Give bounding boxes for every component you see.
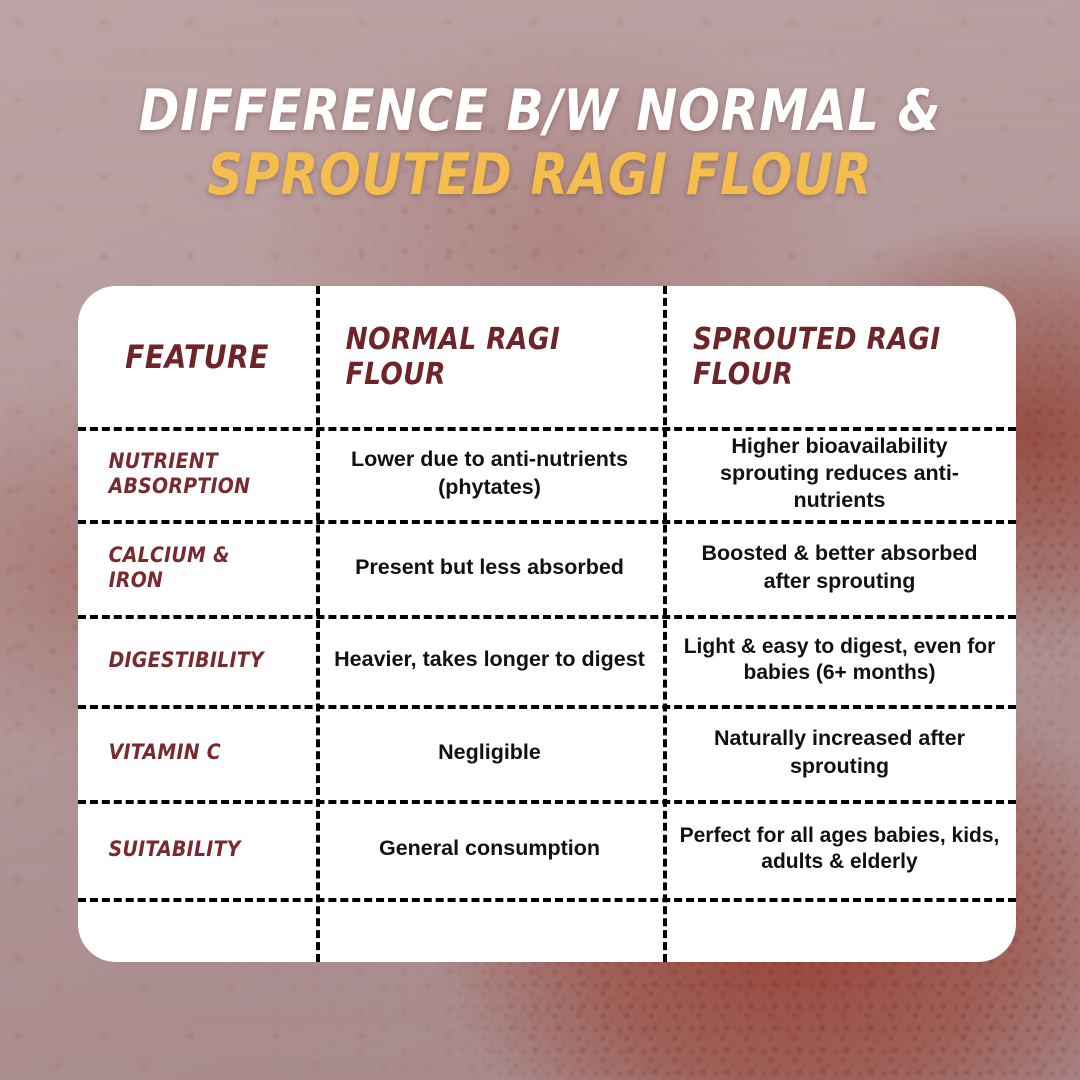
row-divider-6: [78, 898, 1016, 902]
value-sprouted-4: Naturally increased after sprouting: [663, 705, 1016, 800]
table-row: DIGESTIBILITY: [78, 615, 292, 705]
table-row: VITAMIN C: [78, 705, 292, 800]
row-divider-1: [78, 427, 1016, 431]
value-sprouted-3: Light & easy to digest, even for babies …: [663, 615, 1016, 705]
row-divider-5: [78, 800, 1016, 804]
title-line-secondary: SPROUTED RAGI FLOUR: [76, 146, 1005, 204]
feature-label-3: DIGESTIBILITY: [109, 648, 264, 673]
row-divider-3: [78, 615, 1016, 619]
feature-label-1: NUTRIENT ABSORPTION: [109, 449, 284, 499]
poster-title: DIFFERENCE B/W NORMAL & SPROUTED RAGI FL…: [0, 82, 1080, 204]
value-sprouted-5: Perfect for all ages babies, kids, adult…: [663, 800, 1016, 898]
comparison-card: FEATURE NORMAL RAGI FLOUR SPROUTED RAGI …: [78, 286, 1016, 962]
table-header-sprouted: SPROUTED RAGI FLOUR: [684, 286, 995, 427]
table-row: CALCIUM & IRON: [78, 520, 292, 615]
column-divider-1: [316, 286, 320, 962]
value-normal-5: General consumption: [316, 800, 663, 898]
value-normal-1: Lower due to anti-nutrients (phytates): [316, 427, 663, 520]
table-row-empty-normal: [316, 898, 663, 962]
value-normal-2: Present but less absorbed: [316, 520, 663, 615]
table-row-empty-sprouted: [663, 898, 1016, 962]
comparison-table: FEATURE NORMAL RAGI FLOUR SPROUTED RAGI …: [78, 286, 1016, 962]
feature-label-5: SUITABILITY: [109, 837, 241, 862]
row-divider-4: [78, 705, 1016, 709]
feature-label-2: CALCIUM & IRON: [109, 543, 284, 593]
row-divider-2: [78, 520, 1016, 524]
table-header-normal: NORMAL RAGI FLOUR: [337, 286, 642, 427]
infographic-poster: DIFFERENCE B/W NORMAL & SPROUTED RAGI FL…: [0, 0, 1080, 1080]
value-sprouted-2: Boosted & better absorbed after sproutin…: [663, 520, 1016, 615]
table-header-feature: FEATURE: [92, 286, 301, 427]
title-line-primary: DIFFERENCE B/W NORMAL &: [76, 82, 1005, 140]
table-row-empty-feature: [78, 898, 316, 962]
feature-label-4: VITAMIN C: [109, 740, 221, 765]
table-row: NUTRIENT ABSORPTION: [78, 427, 292, 520]
value-normal-4: Negligible: [316, 705, 663, 800]
value-sprouted-1: Higher bioavailability sprouting reduces…: [663, 427, 1016, 520]
column-divider-2: [663, 286, 667, 962]
table-row: SUITABILITY: [78, 800, 292, 898]
value-normal-3: Heavier, takes longer to digest: [316, 615, 663, 705]
